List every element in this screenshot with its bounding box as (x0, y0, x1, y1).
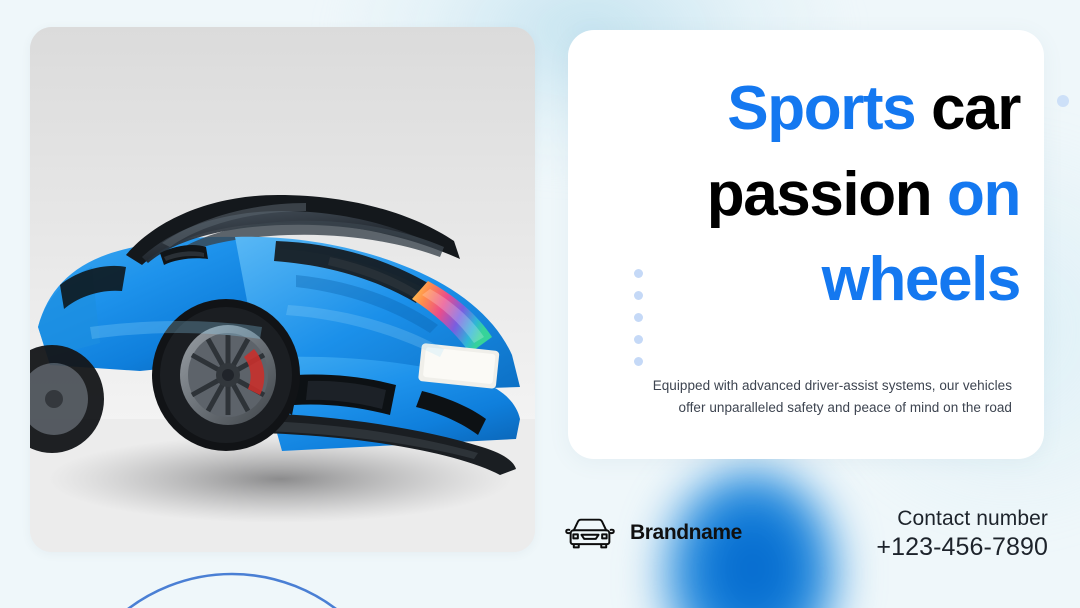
decoration-dot (634, 313, 643, 322)
headline-card: Sports car passion on wheels Equipped wi… (568, 30, 1044, 459)
headline-word-sports: Sports (727, 74, 915, 143)
headline-word-car: car (931, 74, 1020, 143)
car-photo (30, 27, 535, 552)
headline-word-passion: passion (707, 160, 932, 229)
page-title: Sports car passion on wheels (592, 66, 1020, 323)
contact-info: Contact number +123-456-7890 (876, 505, 1048, 564)
poster-canvas: Sports car passion on wheels Equipped wi… (0, 0, 1080, 608)
decoration-dot (634, 269, 643, 278)
body-paragraph: Equipped with advanced driver-assist sys… (640, 375, 1012, 419)
headline-word-on: on (947, 160, 1020, 229)
headline-word-wheels: wheels (822, 245, 1020, 314)
contact-number[interactable]: +123-456-7890 (876, 532, 1048, 563)
contact-label: Contact number (876, 505, 1048, 532)
decoration-dot-edge (1057, 95, 1069, 107)
decoration-dot (634, 357, 643, 366)
brand-logo[interactable]: Brandname (563, 515, 742, 551)
decoration-dot (634, 291, 643, 300)
dot-list-decoration (634, 269, 643, 366)
decoration-dot (634, 335, 643, 344)
brand-name-label: Brandname (630, 521, 742, 545)
car-front-icon (563, 515, 617, 551)
